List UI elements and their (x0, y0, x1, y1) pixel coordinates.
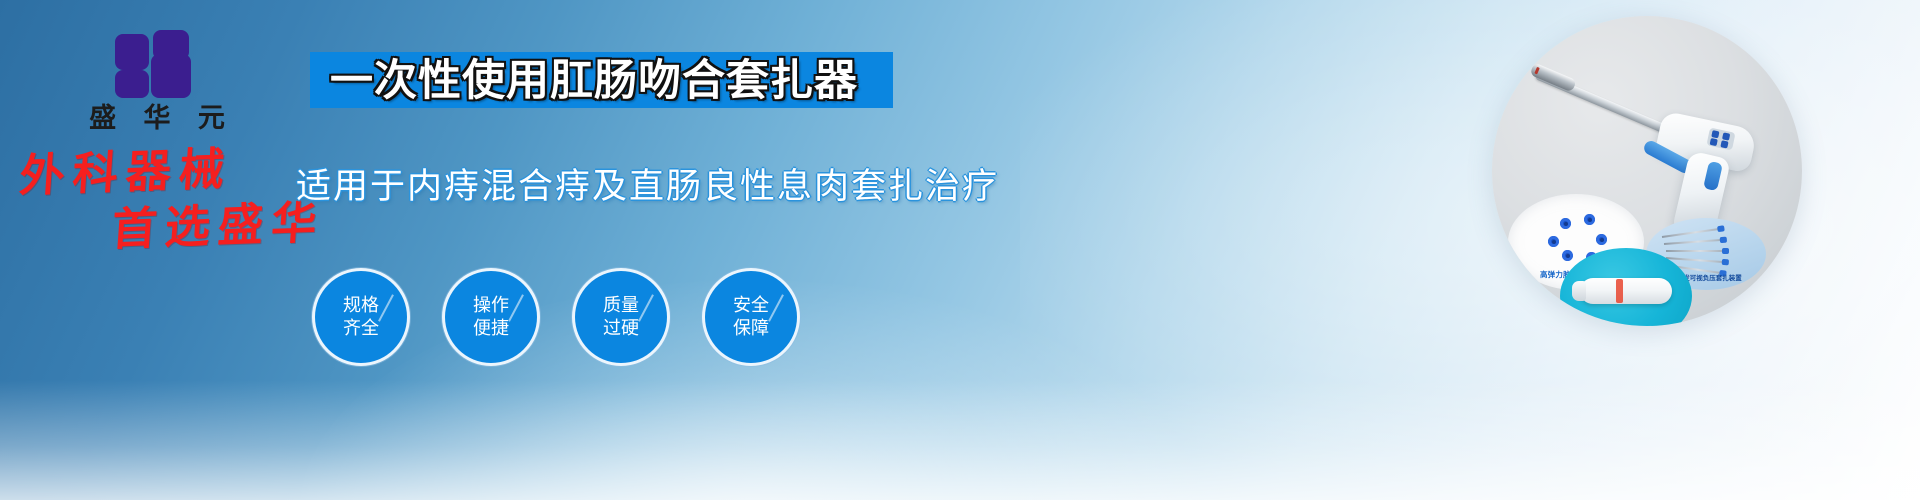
feature-badge-safety[interactable]: 安全 保障 (702, 268, 800, 366)
slash-decoration-icon (768, 294, 784, 321)
feature-badge-quality-line2: 过硬 (603, 317, 639, 340)
light-bloom-decoration-right (1020, 0, 1920, 500)
feature-badge-safety-line1: 安全 (733, 294, 769, 317)
slash-decoration-icon (508, 294, 524, 321)
brand-name: 盛 华 元 (62, 104, 252, 134)
slogan-line-1: 外科器械 (18, 142, 234, 202)
needle-icon (1662, 227, 1724, 238)
slash-decoration-icon (378, 294, 394, 321)
anoscope-tip (1572, 281, 1586, 301)
slash-decoration-icon (638, 294, 654, 321)
page-subtitle: 适用于内痔混合痔及直肠良性息肉套扎治疗 (296, 158, 999, 209)
needle-icon (1666, 250, 1728, 252)
feature-badge-specs-line1: 规格 (343, 294, 379, 317)
logo-mark-icon (111, 26, 203, 100)
anoscope-body (1580, 278, 1672, 304)
feature-badge-operation-line1: 操作 (473, 294, 509, 317)
anoscope-marker (1616, 279, 1623, 303)
feature-badge-specs-line2: 齐全 (343, 317, 379, 340)
rubber-band-dot-icon (1560, 218, 1571, 229)
brand-slogan: 外科器械 首选盛华 (14, 143, 330, 256)
rubber-band-dot-icon (1548, 236, 1559, 247)
page-title: 一次性使用肛肠吻合套扎器 (330, 55, 890, 107)
feature-badge-operation[interactable]: 操作 便捷 (442, 268, 540, 366)
feature-badge-safety-line2: 保障 (733, 317, 769, 340)
feature-badge-list: 规格 齐全 操作 便捷 质量 过硬 安全 保障 (312, 268, 800, 366)
feature-badge-operation-line2: 便捷 (473, 317, 509, 340)
brand-logo[interactable]: 盛 华 元 (62, 26, 252, 134)
promo-banner: 盛 华 元 外科器械 首选盛华 一次性使用肛肠吻合套扎器 适用于内痔混合痔及直肠… (0, 0, 1920, 500)
slogan-line-2: 首选盛华 (110, 200, 326, 252)
feature-badge-quality-line1: 质量 (603, 294, 639, 317)
feature-badge-quality[interactable]: 质量 过硬 (572, 268, 670, 366)
rubber-band-dot-icon (1562, 250, 1573, 261)
feature-badge-specs[interactable]: 规格 齐全 (312, 268, 410, 366)
product-photo: 高弹力胶圈 收缩更紧 多连发可视负压套扎装置 (1492, 16, 1802, 326)
bottom-fade-decoration (0, 380, 1920, 500)
rubber-band-dot-icon (1596, 234, 1607, 245)
rubber-band-dot-icon (1584, 214, 1595, 225)
device-shaft-tip (1529, 63, 1576, 93)
needle-icon (1666, 257, 1728, 263)
needle-icon (1664, 239, 1726, 245)
